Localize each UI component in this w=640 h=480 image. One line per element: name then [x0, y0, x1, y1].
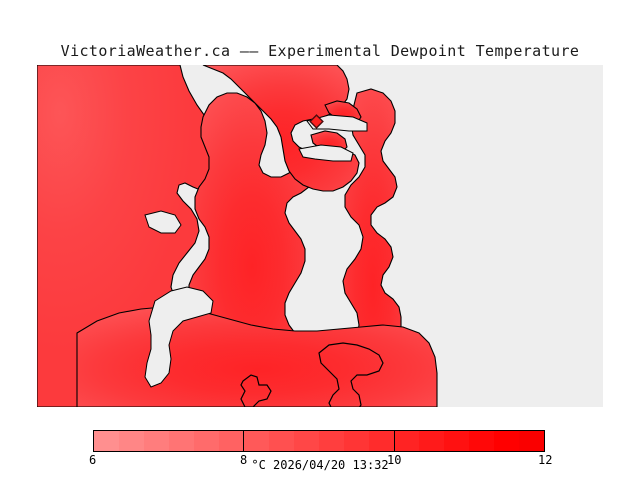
dewpoint-temperature-map[interactable]: [37, 65, 603, 407]
colorbar-gradient[interactable]: [93, 430, 545, 452]
page-title: VictoriaWeather.ca —— Experimental Dewpo…: [0, 42, 640, 60]
colorbar-segment-16: [494, 431, 519, 451]
land-temperature-field: [37, 65, 437, 407]
colorbar[interactable]: 6 8 10 12: [93, 430, 545, 452]
colorbar-segment-15: [469, 431, 494, 451]
colorbar-segment-3: [169, 431, 194, 451]
colorbar-segment-12: [394, 431, 419, 451]
colorbar-segment-5: [219, 431, 244, 451]
colorbar-segment-14: [444, 431, 469, 451]
colorbar-segment-0: [94, 431, 119, 451]
colorbar-segment-1: [119, 431, 144, 451]
colorbar-segment-4: [194, 431, 219, 451]
colorbar-segment-13: [419, 431, 444, 451]
map-panel[interactable]: [37, 65, 603, 407]
colorbar-segment-2: [144, 431, 169, 451]
colorbar-segment-17: [519, 431, 544, 451]
colorbar-segment-8: [294, 431, 319, 451]
colorbar-tick-line-10: [394, 430, 395, 452]
colorbar-segment-7: [269, 431, 294, 451]
colorbar-caption: °C 2026/04/20 13:32: [0, 458, 640, 472]
colorbar-segment-11: [369, 431, 394, 451]
colorbar-tick-line-8: [243, 430, 244, 452]
colorbar-segment-6: [244, 431, 269, 451]
colorbar-segment-10: [344, 431, 369, 451]
colorbar-segment-9: [319, 431, 344, 451]
